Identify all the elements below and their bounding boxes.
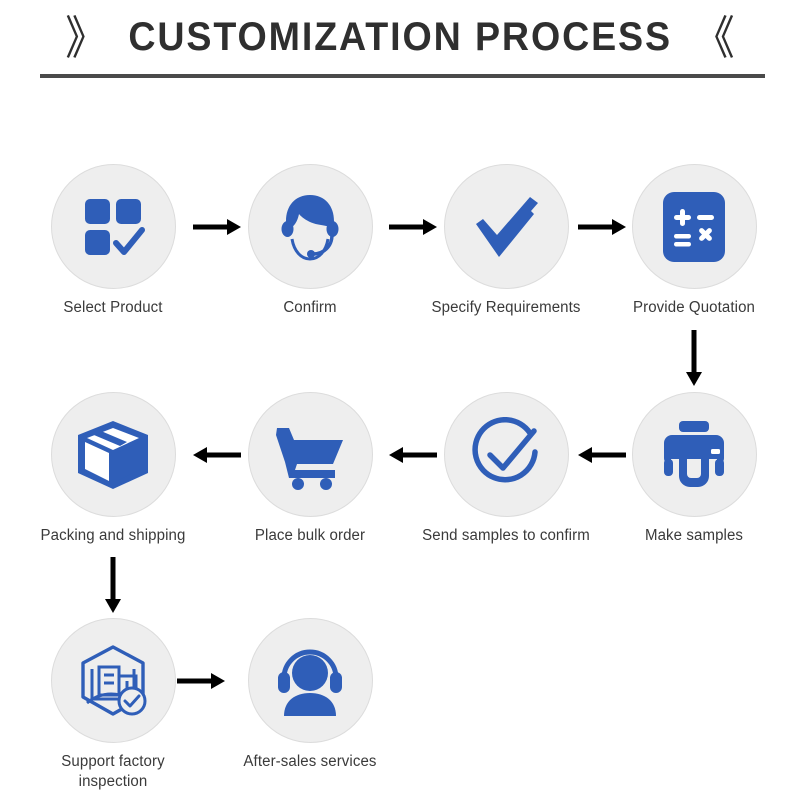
headset-operator-icon xyxy=(272,189,348,265)
step-icon-circle xyxy=(444,392,569,517)
checkmark-icon xyxy=(468,189,544,265)
arrow-step6-step7 xyxy=(389,445,437,465)
title-row: 》 CUSTOMIZATION PROCESS 《 xyxy=(0,8,800,66)
step-send-samples-to-confirm[interactable]: Send samples to confirm xyxy=(416,392,596,546)
step-label: Confirm xyxy=(223,298,398,318)
headphones-person-icon xyxy=(273,646,347,716)
step-label: Place bulk order xyxy=(223,526,398,546)
step-specify-requirements[interactable]: Specify Requirements xyxy=(416,164,596,318)
arrow-step8-step9 xyxy=(103,557,123,613)
calculator-icon xyxy=(661,190,727,264)
step-after-sales-services[interactable]: After-sales services xyxy=(220,618,400,772)
shopping-cart-icon xyxy=(273,420,347,490)
step-confirm[interactable]: Confirm xyxy=(220,164,400,318)
step-label: Select Product xyxy=(26,298,201,318)
step-select-product[interactable]: Select Product xyxy=(23,164,203,318)
step-icon-circle xyxy=(444,164,569,289)
arrow-step4-step5 xyxy=(684,330,704,386)
arrow-step2-step3 xyxy=(389,217,437,237)
circle-check-icon xyxy=(468,417,544,493)
step-icon-circle xyxy=(632,392,757,517)
printer-icon xyxy=(657,419,731,491)
step-label: Provide Quotation xyxy=(607,298,782,318)
step-label: Packing and shipping xyxy=(26,526,201,546)
step-label: Send samples to confirm xyxy=(419,526,594,546)
step-icon-circle xyxy=(248,618,373,743)
step-icon-circle xyxy=(51,392,176,517)
arrow-step1-step2 xyxy=(193,217,241,237)
step-label: Specify Requirements xyxy=(419,298,594,318)
step-support-factory-inspection[interactable]: Support factory inspection xyxy=(23,618,203,792)
title-divider xyxy=(40,74,765,78)
customization-process-infographic: 》 CUSTOMIZATION PROCESS 《 Select Product xyxy=(0,0,800,800)
step-icon-circle xyxy=(51,618,176,743)
step-packing-and-shipping[interactable]: Packing and shipping xyxy=(23,392,203,546)
step-icon-circle xyxy=(248,164,373,289)
step-place-bulk-order[interactable]: Place bulk order xyxy=(220,392,400,546)
arrow-step7-step8 xyxy=(193,445,241,465)
factory-inspection-icon xyxy=(75,643,151,719)
step-icon-circle xyxy=(632,164,757,289)
arrow-step9-step10 xyxy=(177,671,225,691)
arrow-step5-step6 xyxy=(578,445,626,465)
step-icon-circle xyxy=(51,164,176,289)
package-box-icon xyxy=(75,418,151,492)
step-label: Make samples xyxy=(607,526,782,546)
chevron-left-icon: 》 xyxy=(65,10,106,66)
header: 》 CUSTOMIZATION PROCESS 《 xyxy=(0,0,800,100)
step-label: After-sales services xyxy=(223,752,398,772)
step-make-samples[interactable]: Make samples xyxy=(604,392,784,546)
step-provide-quotation[interactable]: Provide Quotation xyxy=(604,164,784,318)
grid-select-icon xyxy=(77,191,149,263)
step-label: Support factory inspection xyxy=(26,752,201,792)
page-title: CUSTOMIZATION PROCESS xyxy=(128,8,672,66)
chevron-right-icon: 《 xyxy=(693,10,734,66)
step-icon-circle xyxy=(248,392,373,517)
arrow-step3-step4 xyxy=(578,217,626,237)
